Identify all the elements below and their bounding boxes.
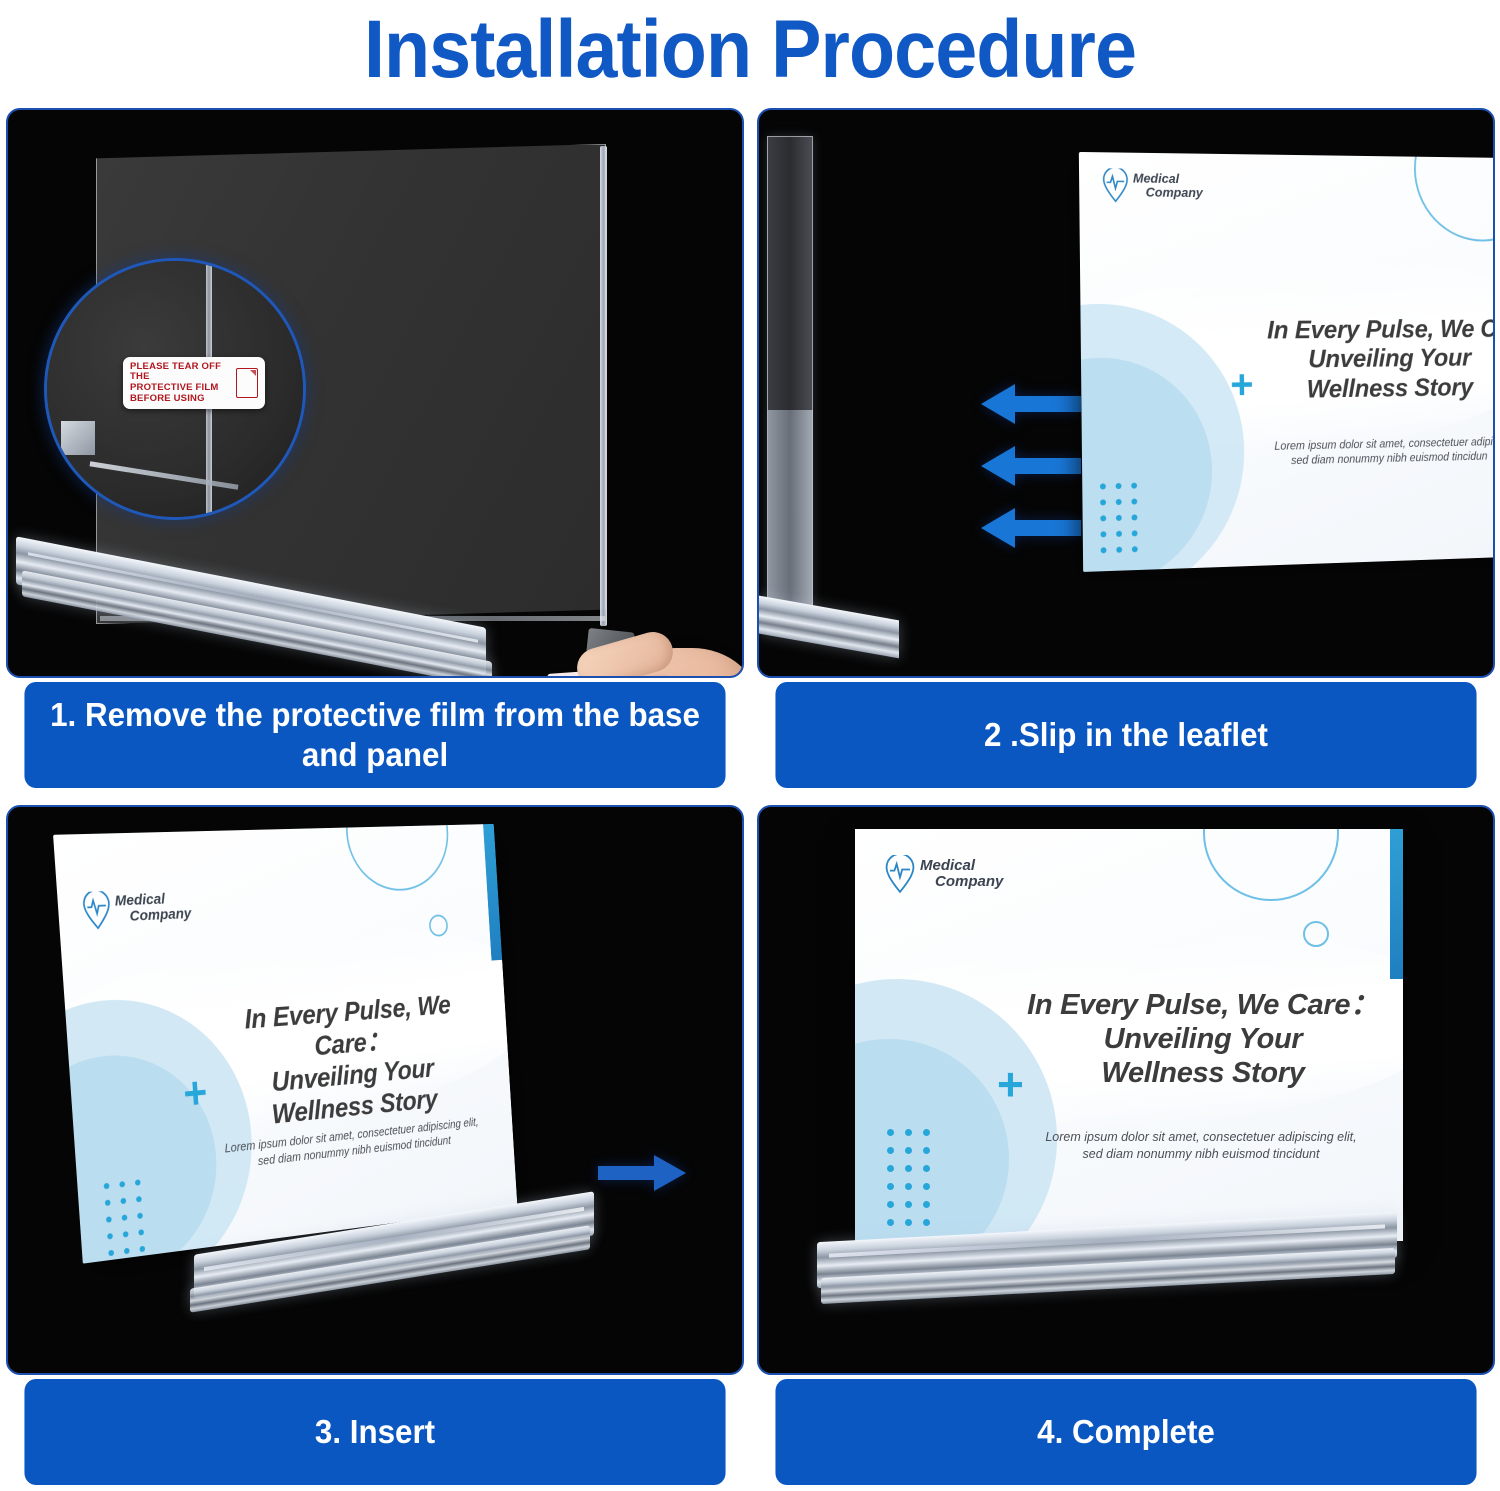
leaflet-logo-text: Medical Company xyxy=(920,858,988,890)
step-3-photo: Medical Company + In Every Pulse, We Car… xyxy=(6,805,744,1375)
warning-line-3: BEFORE USING xyxy=(130,394,230,405)
leaflet-tilted: Medical Company + In Every Pulse, We Car… xyxy=(53,824,517,1264)
insert-arrow-3 xyxy=(981,508,1081,548)
headline-line-2: Unveiling Your xyxy=(1023,1023,1383,1057)
insert-arrow-2 xyxy=(981,446,1081,486)
leaflet-plus-icon: + xyxy=(997,1061,1024,1107)
step-4: Medical Company + In Every Pulse, We Car… xyxy=(757,805,1495,1485)
leaflet-headline: In Every Pulse, We Care： Unveiling Your … xyxy=(201,988,495,1139)
medical-pulse-pin-icon xyxy=(82,891,112,930)
headline-line-1: In Every Pulse, We Ca xyxy=(1250,314,1495,345)
leaflet-logo-text: Medical Company xyxy=(1133,172,1191,200)
arrow-left-icon xyxy=(981,446,1081,486)
leaflet-circle-outline-large xyxy=(1203,829,1339,901)
body-line-1: Lorem ipsum dolor sit amet, consectetuer… xyxy=(1015,1129,1387,1146)
step-2: Medical Company + In Every Pulse, We Ca … xyxy=(757,108,1495,788)
leaflet-dot-grid xyxy=(104,1178,156,1263)
logo-line-2: Company xyxy=(115,907,178,925)
body-line-2: sed diam nonummy nibh euismod tincidunt xyxy=(1015,1146,1387,1163)
step-3-caption: 3. Insert xyxy=(24,1379,725,1485)
leaflet-headline: In Every Pulse, We Care： Unveiling Your … xyxy=(1023,989,1383,1091)
leaflet-logo: Medical Company xyxy=(885,855,988,893)
magnifier-callout: PLEASE TEAR OFF THE PROTECTIVE FILM BEFO… xyxy=(44,258,306,520)
arrow-left-icon xyxy=(981,384,1081,424)
leaflet-dot-grid xyxy=(1100,482,1148,563)
headline-line-1: In Every Pulse, We Care： xyxy=(1023,989,1383,1023)
leaflet-blue-edge-stripe xyxy=(1390,829,1403,979)
leaflet-body: Lorem ipsum dolor sit amet, consectetuer… xyxy=(1015,1129,1387,1163)
step-3: Medical Company + In Every Pulse, We Car… xyxy=(6,805,744,1485)
leaflet-logo: Medical Company xyxy=(82,888,179,930)
magnified-base-highlight xyxy=(61,421,95,455)
step-2-caption: 2 .Slip in the leaflet xyxy=(775,682,1476,788)
leaflet-logo-text: Medical Company xyxy=(114,892,178,926)
logo-line-2: Company xyxy=(1133,186,1190,200)
step-4-photo: Medical Company + In Every Pulse, We Car… xyxy=(757,805,1495,1375)
warning-line-1: PLEASE TEAR OFF THE xyxy=(130,362,230,383)
leaflet-partial: Medical Company + In Every Pulse, We Ca … xyxy=(1079,152,1495,572)
hand xyxy=(564,624,744,678)
warning-sticker-text: PLEASE TEAR OFF THE PROTECTIVE FILM BEFO… xyxy=(130,362,230,405)
arrow-right-icon xyxy=(598,1155,686,1191)
steps-grid: PLEASE TEAR OFF THE PROTECTIVE FILM BEFO… xyxy=(0,108,1500,1491)
peel-corner-icon xyxy=(236,368,258,398)
leaflet-circle-outline xyxy=(1413,152,1495,242)
logo-line-2: Company xyxy=(920,874,988,890)
step-1-photo: PLEASE TEAR OFF THE PROTECTIVE FILM BEFO… xyxy=(6,108,744,678)
insert-arrow-1 xyxy=(981,384,1081,424)
stand-edge-highlight xyxy=(767,410,813,610)
medical-pulse-pin-icon xyxy=(885,855,915,893)
warning-sticker-magnified: PLEASE TEAR OFF THE PROTECTIVE FILM BEFO… xyxy=(123,357,265,409)
leaflet-circle-outline-large xyxy=(342,824,451,893)
leaflet-circle-outline-small xyxy=(1303,921,1329,947)
step-1: PLEASE TEAR OFF THE PROTECTIVE FILM BEFO… xyxy=(6,108,744,788)
leaflet-dot-grid xyxy=(887,1129,941,1237)
leaflet-body: Lorem ipsum dolor sit amet, consectetuer… xyxy=(1248,435,1495,471)
headline-line-2: Unveiling Your xyxy=(1251,342,1495,374)
leaflet-blue-edge-stripe xyxy=(483,824,502,961)
step-2-photo: Medical Company + In Every Pulse, We Ca … xyxy=(757,108,1495,678)
leaflet-complete: Medical Company + In Every Pulse, We Car… xyxy=(855,829,1403,1241)
leaflet-headline: In Every Pulse, We Ca Unveiling Your Wel… xyxy=(1250,314,1495,405)
medical-pulse-pin-icon xyxy=(1103,168,1129,202)
step-4-caption: 4. Complete xyxy=(775,1379,1476,1485)
insert-direction-arrow xyxy=(598,1155,686,1191)
logo-line-1: Medical xyxy=(920,857,975,874)
leaflet-logo: Medical Company xyxy=(1103,168,1191,203)
page-title: Installation Procedure xyxy=(60,2,1440,98)
headline-line-3: Wellness Story xyxy=(1023,1057,1383,1091)
arrow-left-icon xyxy=(981,508,1081,548)
acrylic-base-bar xyxy=(759,596,899,659)
step-1-caption: 1. Remove the protective film from the b… xyxy=(24,682,725,788)
panel-right-edge xyxy=(600,146,607,626)
headline-line-3: Wellness Story xyxy=(1251,371,1495,404)
installation-procedure-graphic: Installation Procedure xyxy=(0,0,1500,1491)
